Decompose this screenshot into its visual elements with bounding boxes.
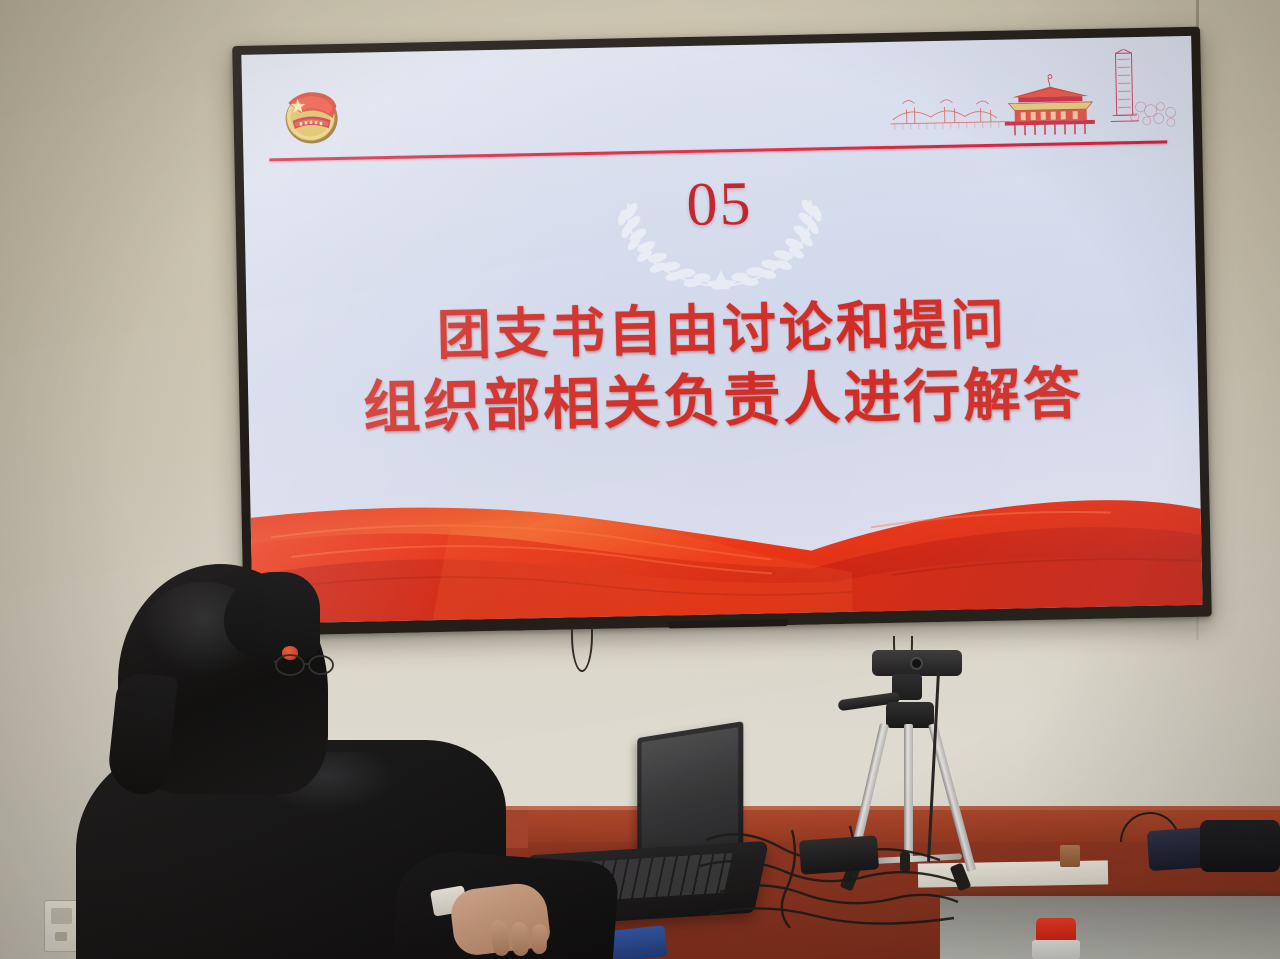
- hair-fringe: [224, 572, 320, 658]
- communist-youth-league-emblem: [280, 84, 343, 147]
- glass-table-surface: [940, 896, 1280, 959]
- dark-av-equipment-secondary: [1200, 820, 1280, 872]
- section-number-block: 05: [244, 154, 1196, 303]
- wall-outlet: [44, 900, 78, 952]
- tiananmen-skyline-illustration: [883, 48, 1185, 150]
- eyeglasses: [274, 652, 336, 678]
- finger: [531, 924, 547, 955]
- paper-holder: [1060, 845, 1080, 867]
- blue-object: [611, 925, 668, 959]
- bottle-cap: [1036, 918, 1076, 942]
- wall-mounted-television: 05 团支书自由讨论和提问 组织部相关负责人进行解答: [232, 27, 1212, 636]
- presentation-slide: 05 团支书自由讨论和提问 组织部相关负责人进行解答: [241, 36, 1202, 624]
- usb-webcam: [872, 650, 962, 676]
- photo-scene: 05 团支书自由讨论和提问 组织部相关负责人进行解答: [0, 0, 1280, 959]
- section-number: 05: [244, 160, 1195, 250]
- cable-hub: [799, 835, 879, 874]
- bottle-body: [1032, 940, 1080, 959]
- tv-bezel: 05 团支书自由讨论和提问 组织部相关负责人进行解答: [232, 27, 1212, 636]
- finger: [511, 921, 529, 956]
- desk-cable-tangle: [700, 820, 960, 930]
- slide-headline: 团支书自由讨论和提问 组织部相关负责人进行解答: [246, 288, 1199, 447]
- red-cap-water-bottle: [1032, 918, 1080, 959]
